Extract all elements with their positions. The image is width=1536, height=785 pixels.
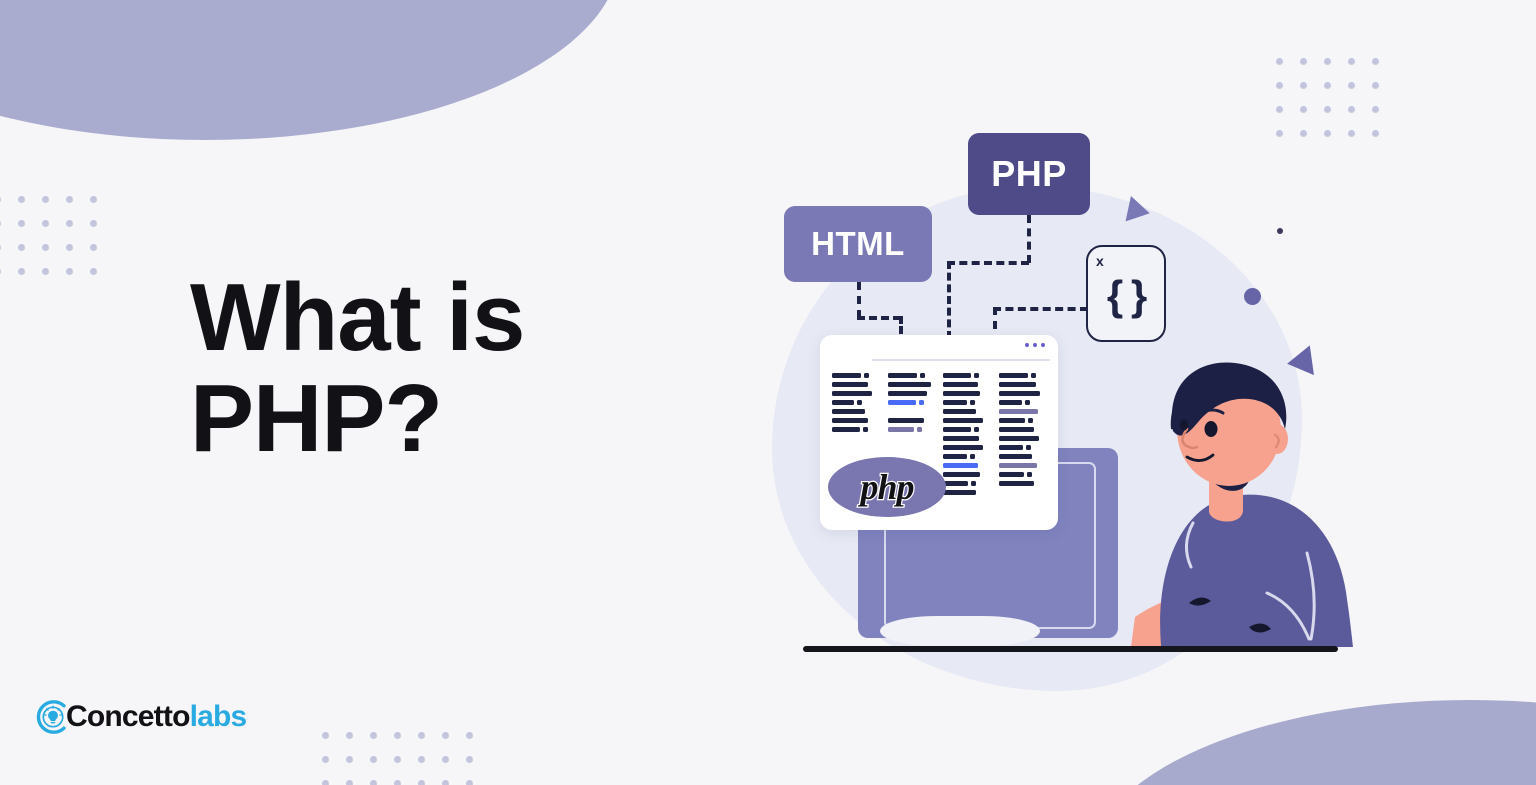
decor-dot <box>466 756 473 763</box>
decor-dot <box>1300 58 1307 65</box>
decor-dot <box>1300 82 1307 89</box>
decor-dot <box>1276 82 1283 89</box>
code-line <box>999 472 1047 477</box>
code-line <box>888 373 936 378</box>
decor-dot <box>1324 58 1331 65</box>
decor-dot <box>1348 106 1355 113</box>
brand-logo[interactable]: Concettolabs <box>34 698 246 736</box>
decor-dot <box>1300 106 1307 113</box>
decor-dot <box>346 732 353 739</box>
decor-dot <box>1324 130 1331 137</box>
decor-dot <box>18 268 25 275</box>
decor-dot <box>442 732 449 739</box>
code-token <box>970 400 975 405</box>
code-line <box>943 436 991 441</box>
decor-dot <box>322 732 329 739</box>
decor-dot <box>1348 82 1355 89</box>
code-line <box>943 391 991 396</box>
code-line <box>832 427 880 432</box>
code-line <box>999 427 1047 432</box>
decor-dot <box>18 196 25 203</box>
code-token <box>832 400 854 405</box>
code-token <box>999 427 1034 432</box>
code-token <box>863 427 868 432</box>
decor-dot <box>66 244 73 251</box>
code-window-rule <box>872 359 1050 361</box>
code-token <box>971 481 976 486</box>
decor-dot <box>346 756 353 763</box>
php-logo-text: php <box>860 469 913 505</box>
code-line <box>943 400 991 405</box>
decor-dot <box>1372 106 1379 113</box>
decor-dot <box>1324 82 1331 89</box>
code-token <box>832 382 868 387</box>
dash-php-left <box>947 261 1029 265</box>
code-line <box>832 409 880 414</box>
code-token <box>832 373 861 378</box>
code-token <box>999 454 1032 459</box>
badge-html[interactable]: HTML <box>784 206 932 282</box>
dash-php-left-down <box>947 261 951 339</box>
code-token <box>999 436 1039 441</box>
code-token <box>943 454 967 459</box>
monitor-foot <box>880 616 1040 646</box>
decor-dot <box>18 244 25 251</box>
code-line <box>999 436 1047 441</box>
code-token <box>970 454 975 459</box>
code-token <box>943 409 976 414</box>
code-line <box>943 490 991 495</box>
decor-dot <box>394 780 401 785</box>
page-title: What is PHP? <box>190 268 524 470</box>
decor-dot <box>18 220 25 227</box>
decor-dot <box>346 780 353 785</box>
code-line <box>943 454 991 459</box>
decor-dot <box>370 732 377 739</box>
code-token <box>999 472 1024 477</box>
decor-dot <box>1300 130 1307 137</box>
code-token <box>999 409 1038 414</box>
decor-dot <box>442 756 449 763</box>
code-line <box>943 409 991 414</box>
decor-dot <box>66 220 73 227</box>
code-token <box>888 418 924 423</box>
decor-dot <box>466 732 473 739</box>
decor-dot <box>0 244 1 251</box>
code-column <box>943 373 991 495</box>
brand-logo-text: Concettolabs <box>66 702 246 732</box>
code-line <box>999 445 1047 450</box>
code-line <box>888 427 936 432</box>
decor-dot <box>442 780 449 785</box>
decor-dot <box>394 732 401 739</box>
code-line <box>832 382 880 387</box>
code-line <box>943 373 991 378</box>
decor-dot <box>90 220 97 227</box>
code-window-titlebar <box>820 335 1058 357</box>
decor-dot <box>370 756 377 763</box>
code-line <box>832 391 880 396</box>
code-token <box>864 373 869 378</box>
code-token <box>919 400 924 405</box>
code-token <box>943 472 980 477</box>
decor-dot <box>42 244 49 251</box>
code-line <box>999 463 1047 468</box>
decor-dot <box>1276 58 1283 65</box>
code-line <box>943 481 991 486</box>
badge-html-label: HTML <box>811 225 905 263</box>
code-line <box>888 418 936 423</box>
code-token <box>832 391 872 396</box>
decor-dot <box>90 196 97 203</box>
code-token <box>1026 445 1031 450</box>
dash-html-right <box>857 316 901 320</box>
code-token <box>920 373 925 378</box>
decor-dot <box>1276 106 1283 113</box>
desk-surface-line <box>803 646 1338 652</box>
code-token <box>888 382 931 387</box>
code-token <box>943 490 976 495</box>
decor-dot <box>1372 130 1379 137</box>
code-line <box>943 472 991 477</box>
code-token <box>999 463 1037 468</box>
decor-dot <box>1372 82 1379 89</box>
decor-dot <box>42 196 49 203</box>
php-logo: php <box>828 457 946 517</box>
code-token <box>943 373 971 378</box>
code-token <box>832 409 865 414</box>
code-token <box>974 373 979 378</box>
decor-dot-small <box>1277 228 1283 234</box>
dash-php-down <box>1027 215 1031 263</box>
code-line <box>999 373 1047 378</box>
decor-dot <box>90 244 97 251</box>
code-line <box>999 454 1047 459</box>
decor-dot <box>0 268 1 275</box>
code-token <box>999 382 1036 387</box>
code-token <box>1025 400 1030 405</box>
code-token <box>888 400 916 405</box>
decor-dot <box>66 268 73 275</box>
code-token <box>888 373 917 378</box>
code-token <box>832 418 868 423</box>
badge-php[interactable]: PHP <box>968 133 1090 215</box>
decor-dot <box>418 732 425 739</box>
decor-dot <box>1372 58 1379 65</box>
decor-dot <box>66 196 73 203</box>
decor-dot <box>394 756 401 763</box>
decor-dot <box>0 196 1 203</box>
decor-blob-top-left <box>0 0 620 140</box>
decor-dot <box>1276 130 1283 137</box>
code-token <box>999 445 1023 450</box>
code-token <box>888 427 914 432</box>
decor-dot <box>1348 58 1355 65</box>
code-token <box>943 463 978 468</box>
code-line <box>999 418 1047 423</box>
code-token <box>1031 373 1036 378</box>
code-token <box>999 481 1034 486</box>
code-line <box>999 400 1047 405</box>
close-icon[interactable]: x <box>1096 253 1104 269</box>
decor-blob-bottom-right <box>1090 700 1536 785</box>
code-token <box>999 373 1028 378</box>
code-token <box>943 427 971 432</box>
code-line <box>832 418 880 423</box>
code-token <box>1027 472 1032 477</box>
code-braces-box[interactable]: x { } <box>1086 245 1166 342</box>
code-line <box>999 391 1047 396</box>
code-line <box>943 427 991 432</box>
code-token <box>943 400 967 405</box>
code-token <box>917 427 922 432</box>
decor-dot <box>418 780 425 785</box>
decor-dot <box>90 268 97 275</box>
page-canvas: What is PHP? Concettolabs <box>0 0 1536 785</box>
code-token <box>999 418 1025 423</box>
code-line <box>888 382 936 387</box>
dash-braces-left <box>993 307 1088 311</box>
code-line <box>943 418 991 423</box>
decor-dot <box>1348 130 1355 137</box>
code-line <box>888 391 936 396</box>
code-token <box>943 391 980 396</box>
dash-html-down <box>857 282 861 318</box>
code-line <box>943 463 991 468</box>
code-line <box>832 373 880 378</box>
code-token <box>943 382 978 387</box>
code-line <box>943 382 991 387</box>
brand-name-primary: Concetto <box>66 700 190 733</box>
decor-dot <box>0 220 1 227</box>
decor-dot-large <box>1244 288 1261 305</box>
code-line <box>999 481 1047 486</box>
code-token <box>832 427 860 432</box>
code-column <box>999 373 1047 495</box>
person-illustration <box>1125 355 1360 650</box>
decor-dot <box>42 220 49 227</box>
code-token <box>999 400 1022 405</box>
code-token <box>999 391 1040 396</box>
decor-dot <box>322 780 329 785</box>
code-token <box>974 427 979 432</box>
decor-dot <box>370 780 377 785</box>
code-line <box>832 400 880 405</box>
decor-dot <box>42 268 49 275</box>
code-token <box>943 436 979 441</box>
code-line <box>999 382 1047 387</box>
brand-name-secondary: labs <box>190 700 247 733</box>
code-token <box>857 400 862 405</box>
triangle-left-icon <box>1285 345 1314 378</box>
decor-dot <box>1324 106 1331 113</box>
code-line <box>888 400 936 405</box>
code-token <box>1028 418 1033 423</box>
decor-dot <box>466 780 473 785</box>
code-token <box>943 445 983 450</box>
code-line <box>999 409 1047 414</box>
badge-php-label: PHP <box>991 153 1067 195</box>
page-title-line-1: What is <box>190 264 524 371</box>
decor-dot <box>322 756 329 763</box>
decor-dot <box>418 756 425 763</box>
window-dots-icon <box>1025 343 1045 347</box>
code-token <box>943 481 968 486</box>
curly-braces-icon: { } <box>1088 275 1164 317</box>
page-title-line-2: PHP? <box>190 369 524 470</box>
code-token <box>943 418 983 423</box>
code-line <box>943 445 991 450</box>
code-token <box>888 391 927 396</box>
